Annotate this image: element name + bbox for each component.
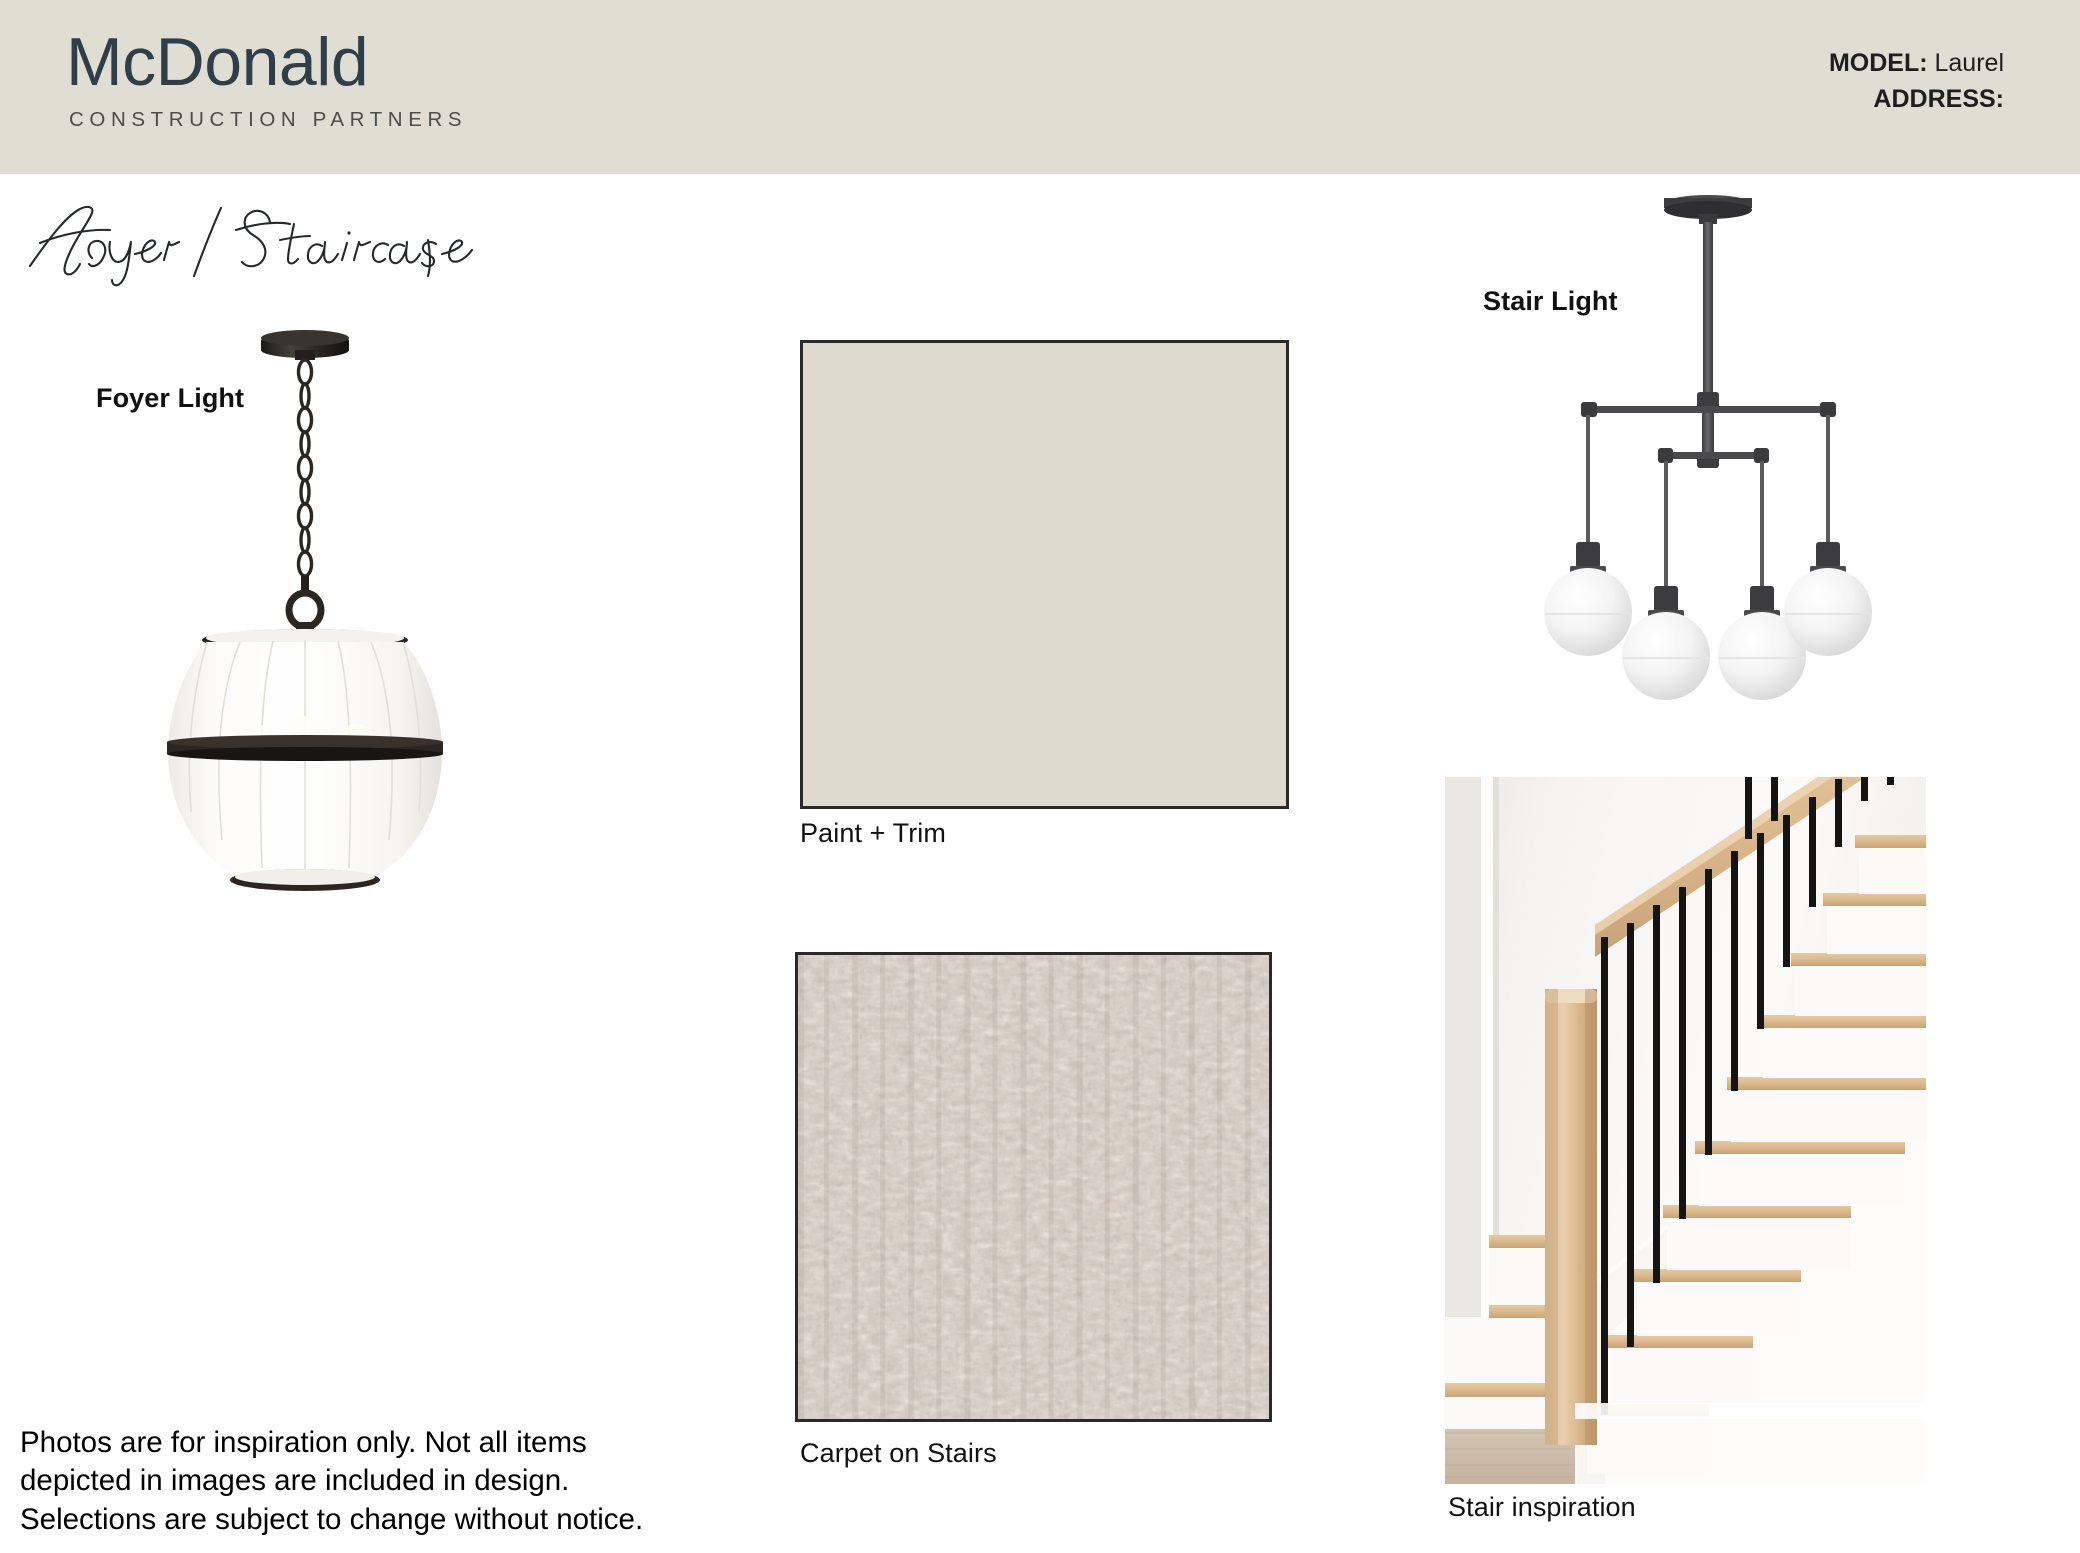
- disclaimer: Photos are for inspiration only. Not all…: [20, 1424, 760, 1539]
- newel-post: [1545, 989, 1597, 1445]
- model-row: MODEL: Laurel: [1829, 46, 2004, 82]
- paint-swatch: [800, 340, 1289, 809]
- address-key: ADDRESS:: [1873, 85, 2004, 113]
- paint-label: Paint + Trim: [800, 818, 946, 849]
- globe-2: [1622, 586, 1710, 706]
- foyer-light-label: Foyer Light: [96, 383, 244, 414]
- address-row: ADDRESS:: [1829, 82, 2004, 118]
- project-meta: MODEL: Laurel ADDRESS:: [1829, 46, 2004, 117]
- stair-inspiration-label: Stair inspiration: [1448, 1492, 1636, 1523]
- canopy: [261, 330, 349, 360]
- stair-inspiration-image: [1445, 777, 1926, 1484]
- stair-light-label: Stair Light: [1483, 286, 1618, 317]
- logo-tagline: CONSTRUCTION PARTNERS: [69, 108, 467, 132]
- section-title: [22, 196, 482, 286]
- carpet-swatch: [795, 952, 1272, 1422]
- disclaimer-line-2: depicted in images are included in desig…: [20, 1462, 760, 1500]
- design-board: McDonald CONSTRUCTION PARTNERS MODEL: La…: [0, 0, 2080, 1553]
- company-logo: McDonald CONSTRUCTION PARTNERS: [66, 28, 467, 132]
- stair-light-image: [1478, 180, 1908, 760]
- disclaimer-line-1: Photos are for inspiration only. Not all…: [20, 1424, 760, 1462]
- lower-arm: [1658, 448, 1769, 589]
- carpet-label: Carpet on Stairs: [800, 1438, 997, 1469]
- disclaimer-line-3: Selections are subject to change without…: [20, 1501, 760, 1539]
- model-key: MODEL:: [1829, 49, 1928, 77]
- ceiling-canopy: [1664, 195, 1752, 224]
- foyer-light-image: [90, 320, 520, 990]
- model-value: Laurel: [1935, 49, 2005, 77]
- chain: [299, 360, 312, 576]
- mid-band: [167, 735, 443, 761]
- globe-1: [1544, 542, 1632, 662]
- logo-wordmark: McDonald: [66, 28, 467, 96]
- page-header: McDonald CONSTRUCTION PARTNERS MODEL: La…: [0, 0, 2080, 174]
